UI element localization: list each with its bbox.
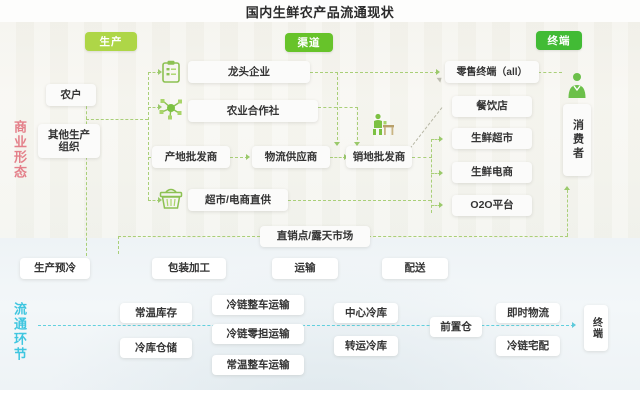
- phase-badge-production: 生产: [85, 32, 137, 51]
- connector-enterprise-down: [337, 72, 338, 145]
- node-direct-sales-outdoor-market[interactable]: 直销点/露天市场: [260, 226, 370, 247]
- connector-coop-down: [357, 107, 358, 145]
- arrowhead-logistics-terminal: [572, 322, 576, 328]
- connector-producer-trunk: [86, 96, 87, 256]
- node-farmer[interactable]: 农户: [46, 84, 96, 106]
- node-packaging-processing[interactable]: 包装加工: [152, 258, 226, 279]
- node-ambient-inventory[interactable]: 常温库存: [120, 303, 192, 323]
- arrowhead-fresh-ecommerce: [439, 170, 443, 176]
- connector-direct-sales-to-consumer: [567, 190, 568, 236]
- node-leading-enterprise[interactable]: 龙头企业: [188, 61, 310, 83]
- node-forward-warehouse[interactable]: 前置仓: [430, 317, 482, 337]
- phase-badge-channel: 渠道: [285, 33, 333, 52]
- arrowhead-enterprise-to-sales: [334, 142, 340, 146]
- page-title: 国内生鲜农产品流通现状: [0, 2, 640, 21]
- arrowhead-o2o: [439, 202, 443, 208]
- diagram-canvas: 国内生鲜农产品流通现状 生产 渠道 终端 商业形态 流通环节: [0, 0, 640, 404]
- node-logistics-terminal[interactable]: 终端: [584, 305, 608, 351]
- node-instant-logistics[interactable]: 即时物流: [496, 303, 560, 323]
- connector-retail-to-consumer: [538, 72, 562, 73]
- node-cold-storage[interactable]: 冷库仓储: [120, 338, 192, 358]
- connector-producer-to-direct-sales: [118, 236, 119, 254]
- node-supermarket-direct-supply[interactable]: 超市/电商直供: [188, 189, 288, 211]
- node-ambient-ftl[interactable]: 常温整车运输: [212, 355, 304, 375]
- connector-enterprise-to-retail: [310, 72, 438, 73]
- node-transfer-cold-warehouse[interactable]: 转运冷库: [334, 336, 398, 356]
- connector-producer-out: [86, 119, 148, 120]
- connector-sales-riser: [431, 139, 432, 213]
- node-logistics-supplier[interactable]: 物流供应商: [252, 146, 330, 168]
- node-cold-chain-ltl[interactable]: 冷链零担运输: [212, 324, 304, 344]
- node-restaurant[interactable]: 餐饮店: [452, 96, 532, 117]
- network-node-icon: [158, 96, 184, 120]
- node-fresh-supermarket[interactable]: 生鲜超市: [452, 128, 532, 149]
- node-agricultural-cooperative[interactable]: 农业合作社: [188, 100, 318, 122]
- arrowhead-consumer-bottom: [564, 186, 570, 190]
- node-central-cold-warehouse[interactable]: 中心冷库: [334, 303, 398, 323]
- clipboard-icon: [160, 60, 182, 84]
- node-other-producer-org[interactable]: 其他生产 组织: [38, 124, 100, 158]
- footer-strip: [0, 390, 640, 404]
- connector-direct-sales-out: [368, 236, 568, 237]
- axis-label-logistics: 流通环节: [6, 292, 28, 372]
- node-consumer[interactable]: 消费者: [563, 104, 591, 176]
- phase-badge-terminal: 终端: [536, 31, 582, 50]
- connector-logistics-spine: [38, 325, 574, 326]
- node-retail-terminal-all[interactable]: 零售终端（all）: [445, 61, 539, 83]
- connector-direct-sales-in: [118, 236, 260, 237]
- node-cold-chain-home-delivery[interactable]: 冷链宅配: [496, 336, 560, 356]
- node-fresh-ecommerce[interactable]: 生鲜电商: [452, 162, 532, 183]
- node-o2o-platform[interactable]: O2O平台: [452, 195, 532, 216]
- basket-icon: [158, 186, 184, 212]
- market-stall-icon: [370, 112, 396, 136]
- node-origin-wholesaler[interactable]: 产地批发商: [152, 146, 230, 168]
- connector-coop-right: [318, 107, 358, 108]
- axis-label-business: 商业形态: [6, 104, 28, 196]
- node-sales-wholesaler[interactable]: 销地批发商: [346, 146, 412, 168]
- node-cold-chain-ftl[interactable]: 冷链整车运输: [212, 295, 304, 315]
- arrowhead-fresh-supermarket: [439, 136, 443, 142]
- arrowhead-logistics-supplier: [246, 154, 250, 160]
- node-delivery[interactable]: 配送: [382, 258, 448, 279]
- person-icon: [566, 72, 588, 98]
- connector-direct-supply-right: [288, 200, 431, 201]
- connector-channel-riser: [148, 72, 149, 200]
- connector-sales-right: [412, 157, 432, 158]
- node-production-precooling[interactable]: 生产预冷: [20, 258, 90, 279]
- node-transport[interactable]: 运输: [272, 258, 338, 279]
